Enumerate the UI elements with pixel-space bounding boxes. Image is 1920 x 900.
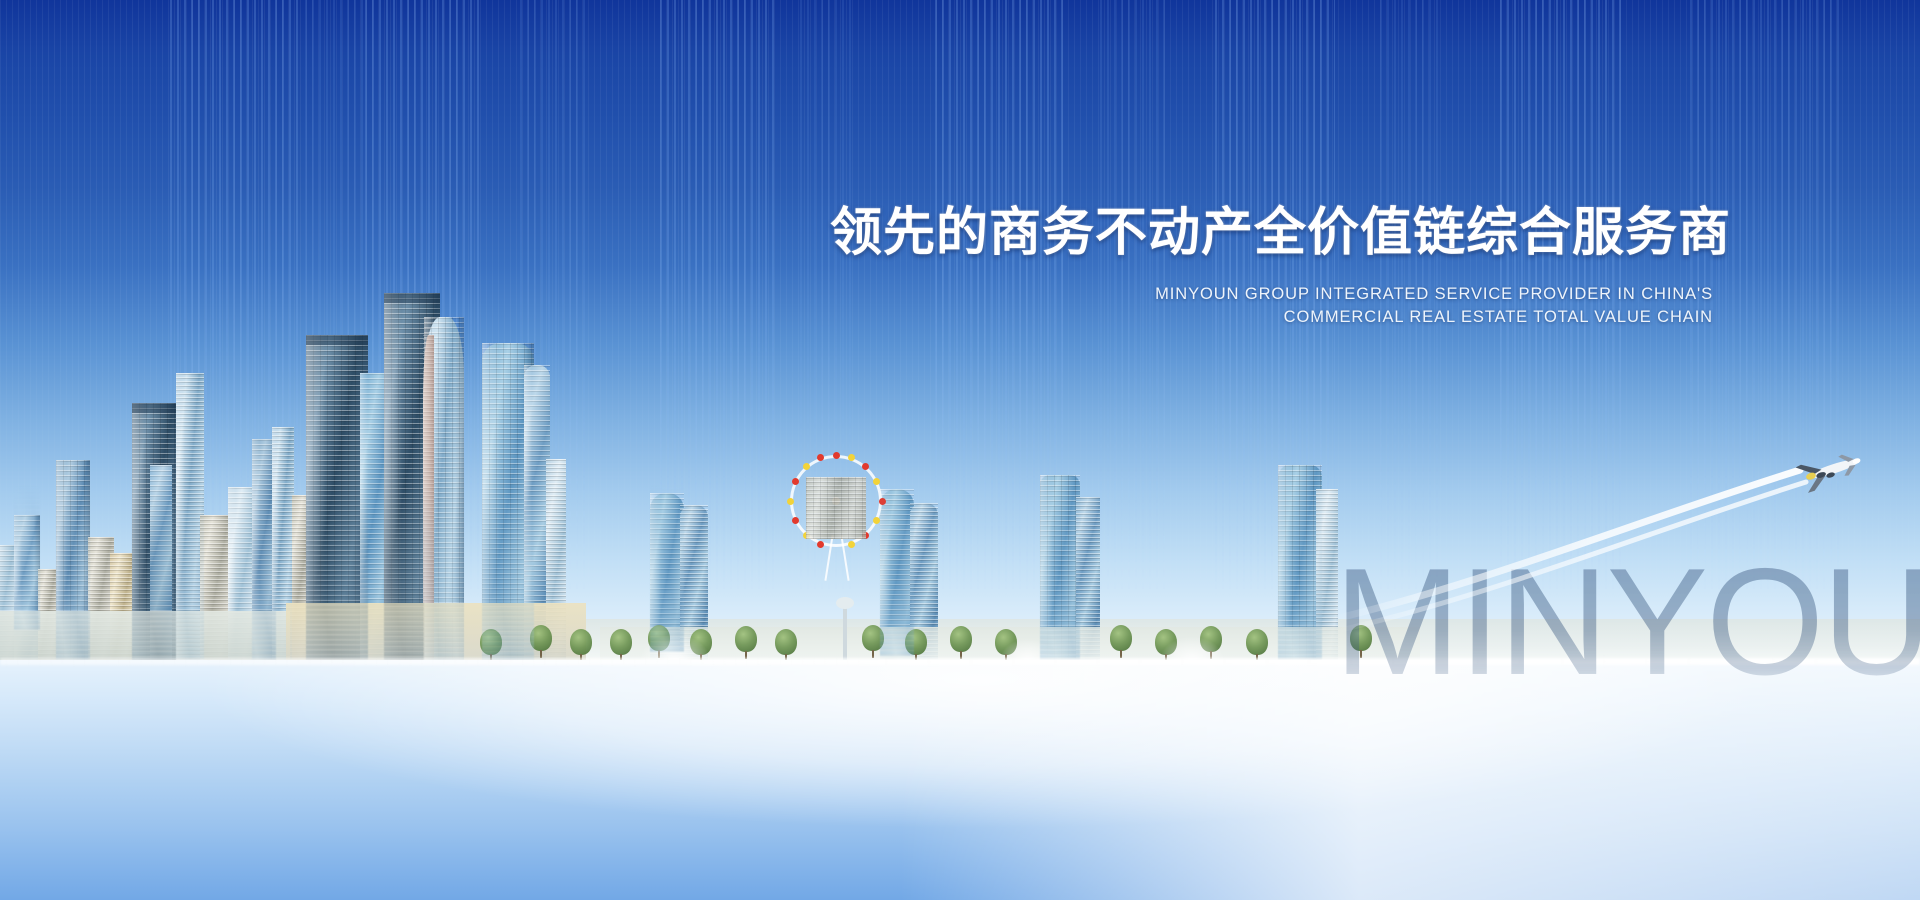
subtitle: MINYOUN GROUP INTEGRATED SERVICE PROVIDE… — [953, 283, 1713, 330]
banner-stage: MINYOUN 领先的商务不动产全价值链综合服务商 — [0, 0, 1920, 900]
watermark-minyoun: MINYOUN — [1334, 546, 1920, 698]
subtitle-line-1: MINYOUN GROUP INTEGRATED SERVICE PROVIDE… — [953, 283, 1713, 306]
page-title: 领先的商务不动产全价值链综合服务商 — [830, 205, 1710, 261]
airplane-icon — [1790, 440, 1870, 500]
subtitle-line-2: COMMERCIAL REAL ESTATE TOTAL VALUE CHAIN — [953, 306, 1713, 329]
